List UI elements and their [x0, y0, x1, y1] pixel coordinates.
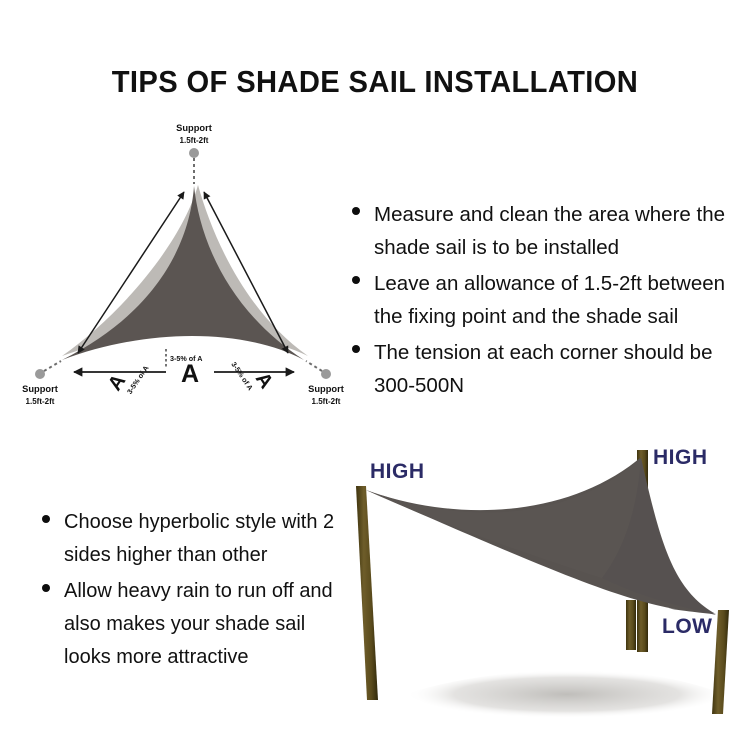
bullet-dot-icon	[352, 276, 360, 284]
support-bottom-right-title: Support	[308, 384, 344, 394]
anchor-line-bottom-right	[306, 361, 322, 371]
post-low-right	[712, 610, 729, 714]
triangle-sail-diagram: Support 1.5ft-2ft Support 1.5ft-2ft Supp…	[18, 112, 348, 407]
bullet-dot-icon	[42, 515, 50, 523]
support-top-measure: 1.5ft-2ft	[180, 136, 209, 145]
infographic-page: TIPS OF SHADE SAIL INSTALLATION Support …	[0, 0, 750, 750]
label-low: LOW	[662, 615, 712, 638]
hyperbolic-sail-diagram: HIGH HIGH LOW	[340, 428, 750, 750]
tips-list-bottom-left: Choose hyperbolic style with 2 sides hig…	[42, 506, 342, 677]
bullet-dot-icon	[352, 345, 360, 353]
anchor-dot-bottom-left	[35, 369, 45, 379]
post-middle	[626, 600, 636, 650]
bullet-dot-icon	[352, 207, 360, 215]
support-top-title: Support	[176, 123, 212, 133]
tip-text: Measure and clean the area where the sha…	[374, 198, 742, 264]
bullet-dot-icon	[42, 584, 50, 592]
post-high-left	[356, 486, 378, 700]
support-bottom-left-measure: 1.5ft-2ft	[26, 397, 55, 406]
label-high-right: HIGH	[653, 446, 708, 469]
curve-label-right: 3-5% of A	[229, 360, 255, 392]
tip-text: Choose hyperbolic style with 2 sides hig…	[64, 506, 342, 572]
anchor-dot-top	[189, 148, 199, 158]
support-bottom-right-measure: 1.5ft-2ft	[312, 397, 341, 406]
ground-shadow	[406, 670, 728, 718]
list-item: Leave an allowance of 1.5-2ft between th…	[352, 267, 742, 333]
label-high-left: HIGH	[370, 460, 425, 483]
list-item: The tension at each corner should be 300…	[352, 336, 742, 402]
list-item: Allow heavy rain to run off and also mak…	[42, 575, 342, 674]
curve-label-bottom: 3-5% of A	[170, 354, 202, 363]
page-title: TIPS OF SHADE SAIL INSTALLATION	[23, 64, 728, 100]
tip-text: The tension at each corner should be 300…	[374, 336, 742, 402]
curve-label-left: 3-5% of A	[125, 364, 151, 396]
anchor-line-bottom-left	[44, 361, 61, 371]
tips-list-top-right: Measure and clean the area where the sha…	[352, 198, 742, 405]
tip-text: Leave an allowance of 1.5-2ft between th…	[374, 267, 742, 333]
tip-text: Allow heavy rain to run off and also mak…	[64, 575, 342, 674]
list-item: Measure and clean the area where the sha…	[352, 198, 742, 264]
support-bottom-left-title: Support	[22, 384, 58, 394]
side-label-bottom: A	[181, 360, 199, 388]
list-item: Choose hyperbolic style with 2 sides hig…	[42, 506, 342, 572]
anchor-dot-bottom-right	[321, 369, 331, 379]
